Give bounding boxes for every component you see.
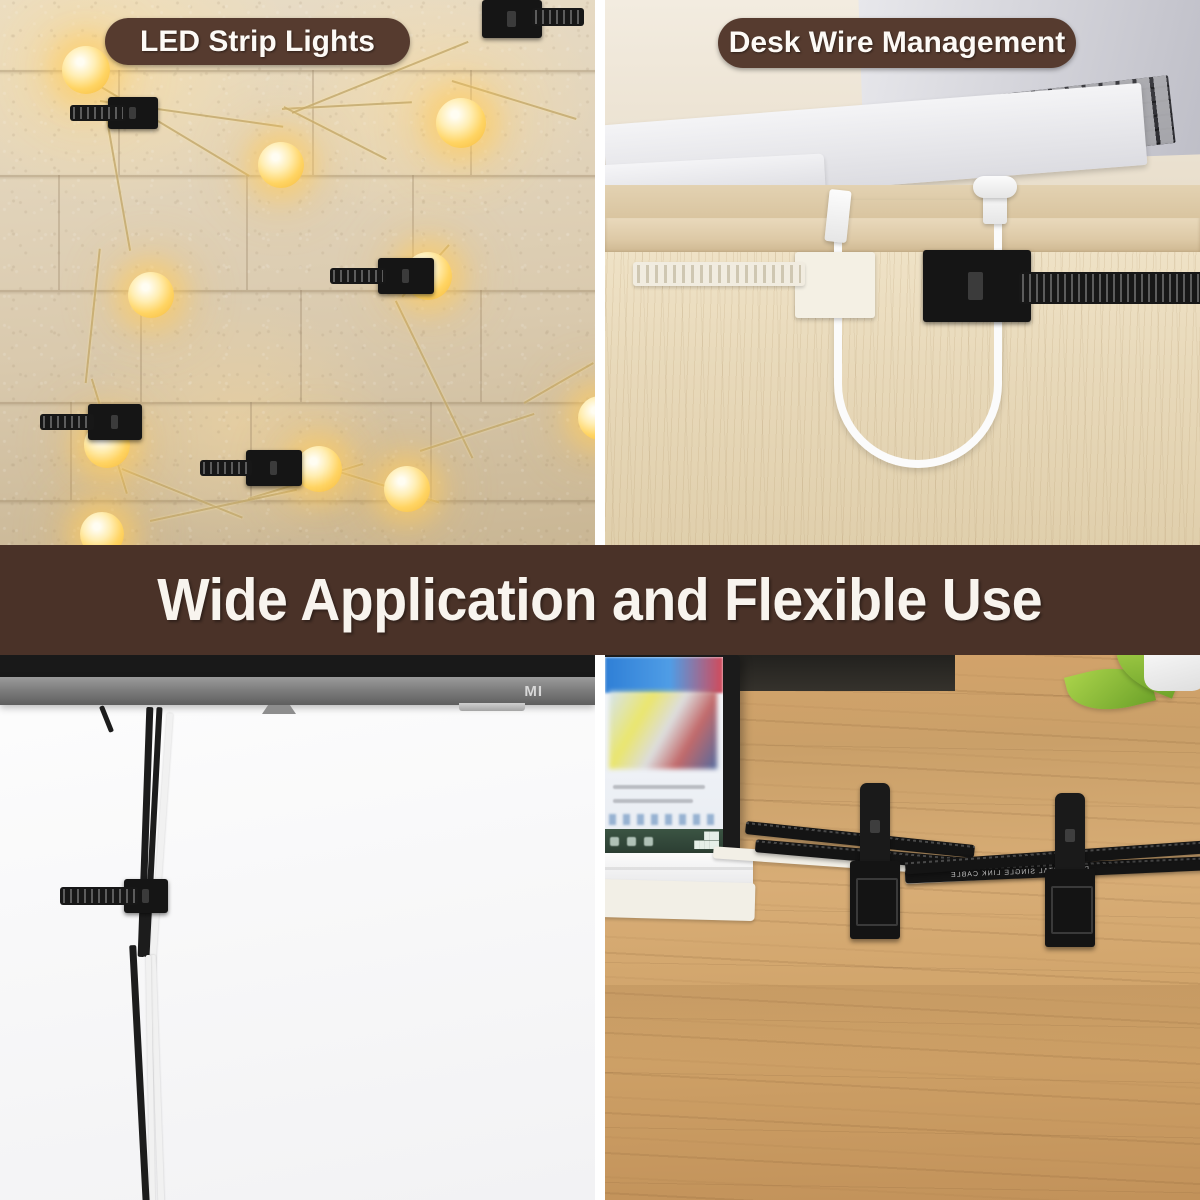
tie-base (850, 861, 900, 939)
mortar-line (58, 175, 60, 290)
label-led-strip-lights: LED Strip Lights (105, 18, 410, 65)
mortar-line (300, 290, 302, 402)
cable-clip (40, 404, 144, 442)
clip-body (88, 404, 142, 440)
cable-raceway (605, 879, 755, 921)
white-wall-background (0, 655, 595, 1200)
screen-taskbar: ████████ (605, 829, 723, 855)
tie-base (1045, 869, 1095, 947)
tv-stand-leg (459, 703, 525, 711)
mortar-line (0, 290, 595, 292)
panel-desk-wire-management: Desk Wire Management (605, 0, 1200, 545)
headline-banner: Wide Application and Flexible Use (0, 545, 1200, 655)
product-feature-collage: LED Strip Lights Desk Wire Manag (0, 0, 1200, 1200)
cable-clip (330, 258, 442, 296)
mortar-line (246, 175, 248, 290)
clip-body (378, 258, 434, 294)
plant-pot (1144, 655, 1200, 691)
label-text: Desk Wire Management (729, 26, 1066, 60)
charging-cable (834, 200, 1002, 468)
headline-text: Wide Application and Flexible Use (158, 566, 1043, 634)
taskbar-icon (644, 837, 653, 846)
screen-text-line (613, 785, 705, 789)
screen-image (609, 691, 717, 769)
panel-office-cabling: ████████ DVI DIGITAL SINGLE LINK CABLE (605, 655, 1200, 1200)
panel-led-strip-lights: LED Strip Lights (0, 0, 595, 545)
clip-strap (40, 414, 94, 430)
cable-tie (1045, 793, 1095, 945)
taskbar-icon (627, 837, 636, 846)
clip-strap (532, 8, 584, 26)
cable-bend (973, 176, 1017, 198)
taskbar-icon (610, 837, 619, 846)
led-bulb (384, 466, 430, 512)
white-cable-clip (795, 252, 875, 318)
mortar-line (480, 290, 482, 402)
clip-strap (330, 268, 386, 284)
cable-clip (200, 450, 304, 488)
led-bulb (62, 46, 110, 94)
clip-body (246, 450, 302, 486)
led-bulb (258, 142, 304, 188)
screen-dock (609, 814, 717, 825)
label-desk-wire-management: Desk Wire Management (718, 18, 1076, 68)
wall-cable-tie (60, 879, 190, 913)
mortar-line (0, 500, 595, 502)
wood-shadow-band (605, 985, 1200, 1065)
cable-clip (472, 0, 582, 42)
led-bulb (436, 98, 486, 148)
clip-strap (1019, 272, 1200, 304)
tv-bottom-bezel (0, 677, 595, 705)
screen-text-line (613, 799, 693, 803)
clip-strap (60, 887, 138, 905)
screen-header-bar (605, 657, 723, 693)
panel-entertainment-center: MI (0, 655, 595, 1200)
led-bulb (128, 272, 174, 318)
label-text: LED Strip Lights (140, 25, 375, 59)
black-cable-clip (923, 250, 1200, 328)
cable-tie (850, 783, 900, 938)
potted-plant (1050, 655, 1200, 750)
white-clip-strap (633, 262, 805, 286)
monitor-screen: ████████ (605, 657, 723, 855)
clip-strap (70, 105, 126, 121)
monitor-shadow (715, 655, 955, 691)
cable-clip (70, 95, 170, 131)
clip-body (923, 250, 1031, 322)
clip-strap (200, 460, 252, 476)
mi-logo: MI (524, 683, 543, 700)
mortar-line (430, 402, 432, 500)
